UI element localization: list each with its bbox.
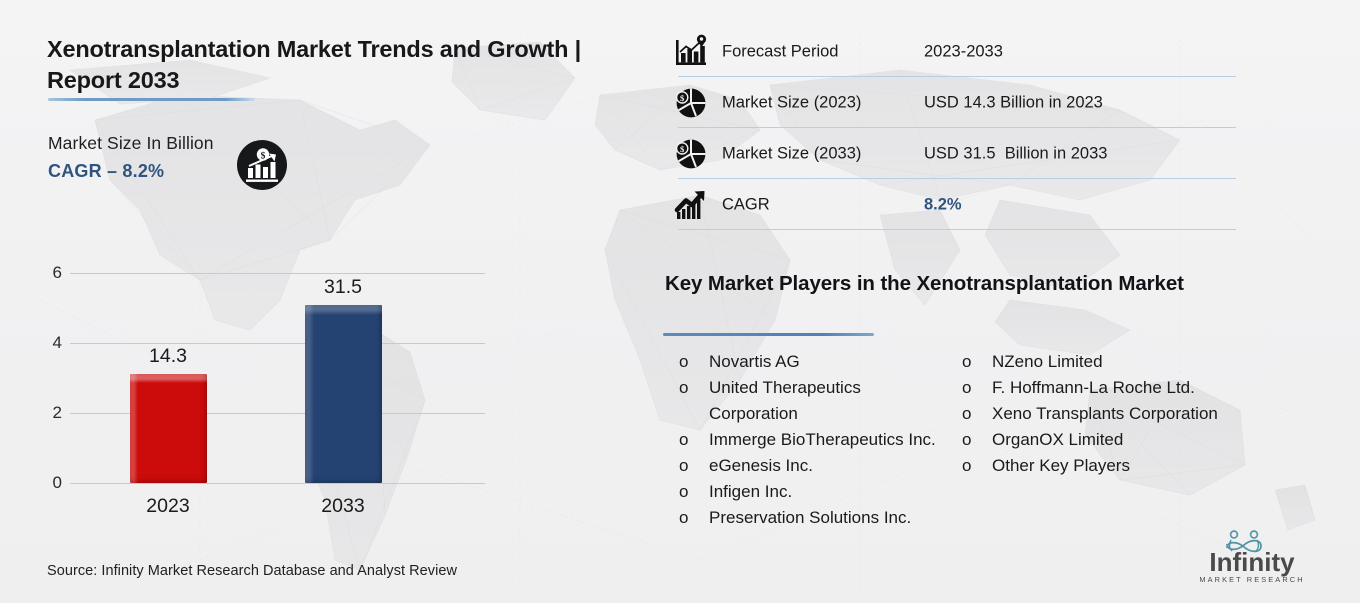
player-name: Novartis AG	[709, 352, 800, 371]
list-marker: o	[679, 375, 709, 401]
list-item: oInfigen Inc.	[679, 479, 941, 505]
player-name: Other Key Players	[992, 456, 1130, 475]
logo-tagline: MARKET RESEARCH	[1199, 575, 1304, 584]
x-label-2023: 2023	[93, 495, 243, 518]
infographic-canvas: Xenotransplantation Market Trends and Gr…	[0, 0, 1360, 603]
list-item: oOther Key Players	[962, 453, 1224, 479]
left-panel: Xenotransplantation Market Trends and Gr…	[0, 0, 650, 603]
fact-row-market-size-2033: $ Market Size (2033) USD 31.5 Billion in…	[664, 128, 1244, 179]
player-name: eGenesis Inc.	[709, 456, 813, 475]
key-facts-table: Forecast Period 2023-2033 $ Market Size …	[664, 26, 1244, 230]
market-size-caption: Market Size In Billion	[48, 133, 214, 154]
list-marker: o	[962, 453, 992, 479]
y-tick-6: 6	[40, 263, 62, 283]
players-heading-underline	[663, 333, 874, 336]
growth-bar-chart-dollar-icon: $	[236, 139, 288, 191]
gridline-4	[70, 343, 485, 344]
fact-label: Forecast Period	[722, 42, 838, 61]
fact-label: CAGR	[722, 195, 770, 214]
players-column-right: oNZeno Limited oF. Hoffmann-La Roche Ltd…	[962, 349, 1224, 479]
players-column-left: oNovartis AG oUnited Therapeutics Corpor…	[679, 349, 941, 531]
page-title: Xenotransplantation Market Trends and Gr…	[47, 34, 607, 97]
cagr-caption: CAGR – 8.2%	[48, 161, 164, 182]
y-tick-2: 2	[40, 403, 62, 423]
pie-chart-dollar-icon: $	[672, 135, 710, 173]
list-item: oNovartis AG	[679, 349, 941, 375]
fact-value: USD 31.5 Billion in 2033	[924, 144, 1107, 163]
x-label-2033: 2033	[268, 495, 418, 518]
list-marker: o	[679, 349, 709, 375]
player-name: United Therapeutics Corporation	[709, 378, 861, 423]
fact-value: USD 14.3 Billion in 2023	[924, 93, 1103, 112]
list-marker: o	[962, 375, 992, 401]
list-item: oF. Hoffmann-La Roche Ltd.	[962, 375, 1224, 401]
list-item: oNZeno Limited	[962, 349, 1224, 375]
svg-text:$: $	[680, 93, 685, 103]
list-item: oPreservation Solutions Inc.	[679, 505, 941, 531]
player-name: OrganOX Limited	[992, 430, 1123, 449]
fact-label: Market Size (2033)	[722, 144, 861, 163]
player-name: F. Hoffmann-La Roche Ltd.	[992, 378, 1195, 397]
player-name: NZeno Limited	[992, 352, 1103, 371]
bar-value-2023: 14.3	[108, 345, 228, 368]
list-item: oXeno Transplants Corporation	[962, 401, 1224, 427]
list-item: oUnited Therapeutics Corporation	[679, 375, 941, 427]
bar-chart-pin-icon	[672, 33, 710, 71]
fact-divider	[678, 229, 1236, 230]
list-item: oImmerge BioTherapeutics Inc.	[679, 427, 941, 453]
y-tick-4: 4	[40, 333, 62, 353]
fact-row-market-size-2023: $ Market Size (2023) USD 14.3 Billion in…	[664, 77, 1244, 128]
gridline-6	[70, 273, 485, 274]
bar-2033	[305, 305, 382, 483]
axis-baseline-0	[70, 483, 485, 484]
fact-row-forecast-period: Forecast Period 2023-2033	[664, 26, 1244, 77]
bar-2023	[130, 374, 207, 483]
svg-text:$: $	[680, 144, 685, 154]
list-marker: o	[962, 401, 992, 427]
pie-chart-dollar-icon: $	[672, 84, 710, 122]
player-name: Immerge BioTherapeutics Inc.	[709, 430, 936, 449]
list-marker: o	[962, 349, 992, 375]
fact-label: Market Size (2023)	[722, 93, 861, 112]
list-marker: o	[679, 505, 709, 531]
player-name: Xeno Transplants Corporation	[992, 404, 1218, 423]
list-item: oOrganOX Limited	[962, 427, 1224, 453]
logo-wordmark: Infinity	[1209, 547, 1295, 577]
svg-text:$: $	[261, 150, 266, 161]
growth-arrow-icon	[672, 186, 710, 224]
list-marker: o	[679, 427, 709, 453]
list-marker: o	[679, 479, 709, 505]
key-market-players-heading: Key Market Players in the Xenotransplant…	[665, 272, 1184, 296]
player-name: Preservation Solutions Inc.	[709, 508, 911, 527]
y-tick-0: 0	[40, 473, 62, 493]
fact-value: 2023-2033	[924, 42, 1003, 61]
list-marker: o	[679, 453, 709, 479]
market-size-bar-chart: 6 4 2 0 14.3 31.5 2023 2033	[0, 255, 560, 545]
title-underline	[48, 98, 255, 101]
fact-row-cagr: CAGR 8.2%	[664, 179, 1244, 230]
source-note: Source: Infinity Market Research Databas…	[47, 563, 457, 579]
infinity-market-research-logo: Infinity MARKET RESEARCH	[1182, 528, 1322, 590]
list-marker: o	[962, 427, 992, 453]
bar-value-2033: 31.5	[283, 276, 403, 299]
list-item: oeGenesis Inc.	[679, 453, 941, 479]
player-name: Infigen Inc.	[709, 482, 792, 501]
fact-value: 8.2%	[924, 195, 962, 214]
